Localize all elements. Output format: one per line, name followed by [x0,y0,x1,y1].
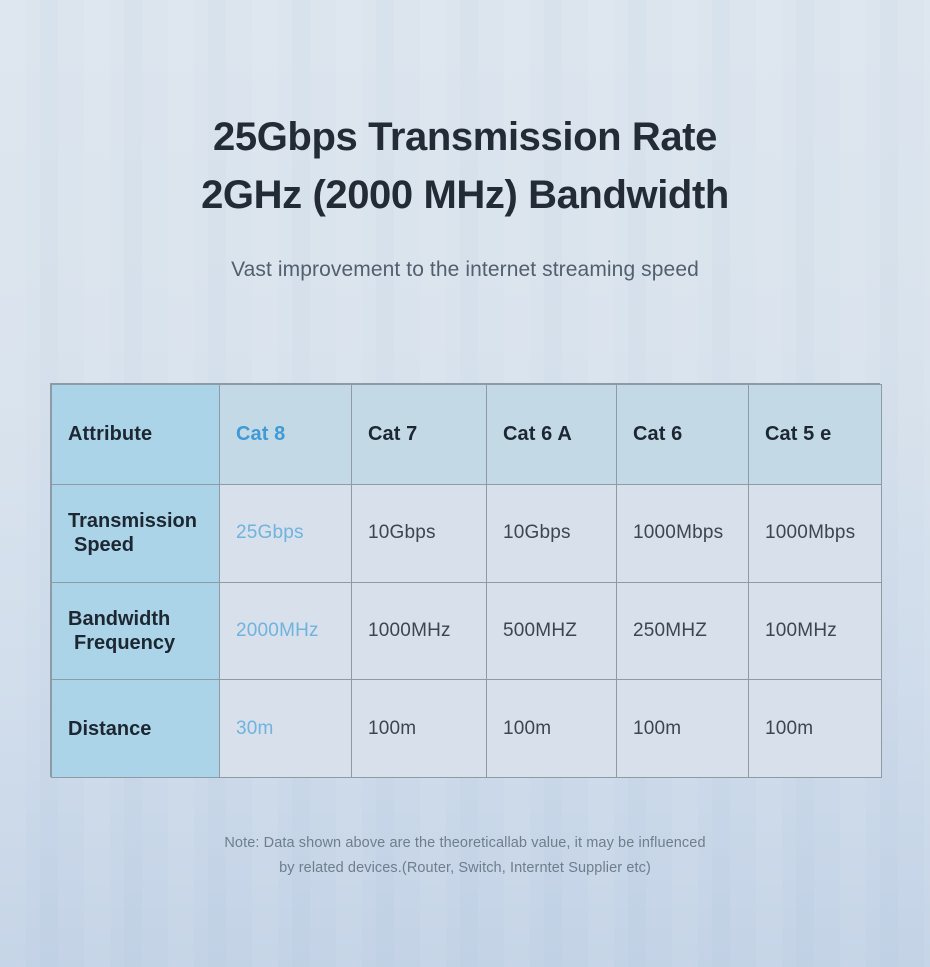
cell-bandwidth-frequency-cat5e: 100MHz [749,582,882,680]
row-label-line-2: Frequency [68,631,219,655]
cell-transmission-speed-cat7: 10Gbps [352,485,487,583]
footnote-disclaimer: Note: Data shown above are the theoretic… [0,831,930,881]
footnote-line-1: Note: Data shown above are the theoretic… [0,831,930,856]
row-label-line-1: Transmission [68,510,197,532]
row-label-line-1: Bandwidth [68,608,170,630]
cell-bandwidth-frequency-cat7: 1000MHz [352,582,487,680]
column-header-cat6a: Cat 6 A [487,385,617,485]
cell-distance-cat7: 100m [352,680,487,778]
cell-bandwidth-frequency-cat6a: 500MHZ [487,582,617,680]
cell-bandwidth-frequency-cat8: 2000MHz [220,582,352,680]
cell-transmission-speed-cat6: 1000Mbps [617,485,749,583]
cell-bandwidth-frequency-cat6: 250MHZ [617,582,749,680]
page-title: 25Gbps Transmission Rate 2GHz (2000 MHz)… [0,108,930,224]
table-row: Distance 30m 100m 100m 100m 100m [52,680,882,778]
column-header-cat8: Cat 8 [220,385,352,485]
column-header-cat7: Cat 7 [352,385,487,485]
infographic-page: 25Gbps Transmission Rate 2GHz (2000 MHz)… [0,0,930,967]
footnote-line-2: by related devices.(Router, Switch, Inte… [0,856,930,881]
row-label-transmission-speed: Transmission Speed [52,485,220,583]
cell-distance-cat6: 100m [617,680,749,778]
spec-comparison-table: Attribute Cat 8 Cat 7 Cat 6 A Cat 6 Cat … [50,383,880,777]
table-row: Transmission Speed 25Gbps 10Gbps 10Gbps … [52,485,882,583]
row-label-distance: Distance [52,680,220,778]
column-header-attribute: Attribute [52,385,220,485]
cell-distance-cat5e: 100m [749,680,882,778]
table-header-row: Attribute Cat 8 Cat 7 Cat 6 A Cat 6 Cat … [52,385,882,485]
row-label-line-2: Speed [68,533,219,557]
cell-distance-cat8: 30m [220,680,352,778]
title-line-1: 25Gbps Transmission Rate [0,108,930,166]
page-subtitle: Vast improvement to the internet streami… [0,258,930,282]
table-row: Bandwidth Frequency 2000MHz 1000MHz 500M… [52,582,882,680]
row-label-line-1: Distance [68,718,151,740]
row-label-bandwidth-frequency: Bandwidth Frequency [52,582,220,680]
cell-transmission-speed-cat8: 25Gbps [220,485,352,583]
cell-transmission-speed-cat6a: 10Gbps [487,485,617,583]
column-header-cat5e: Cat 5 e [749,385,882,485]
cell-distance-cat6a: 100m [487,680,617,778]
cell-transmission-speed-cat5e: 1000Mbps [749,485,882,583]
title-line-2: 2GHz (2000 MHz) Bandwidth [0,166,930,224]
column-header-cat6: Cat 6 [617,385,749,485]
